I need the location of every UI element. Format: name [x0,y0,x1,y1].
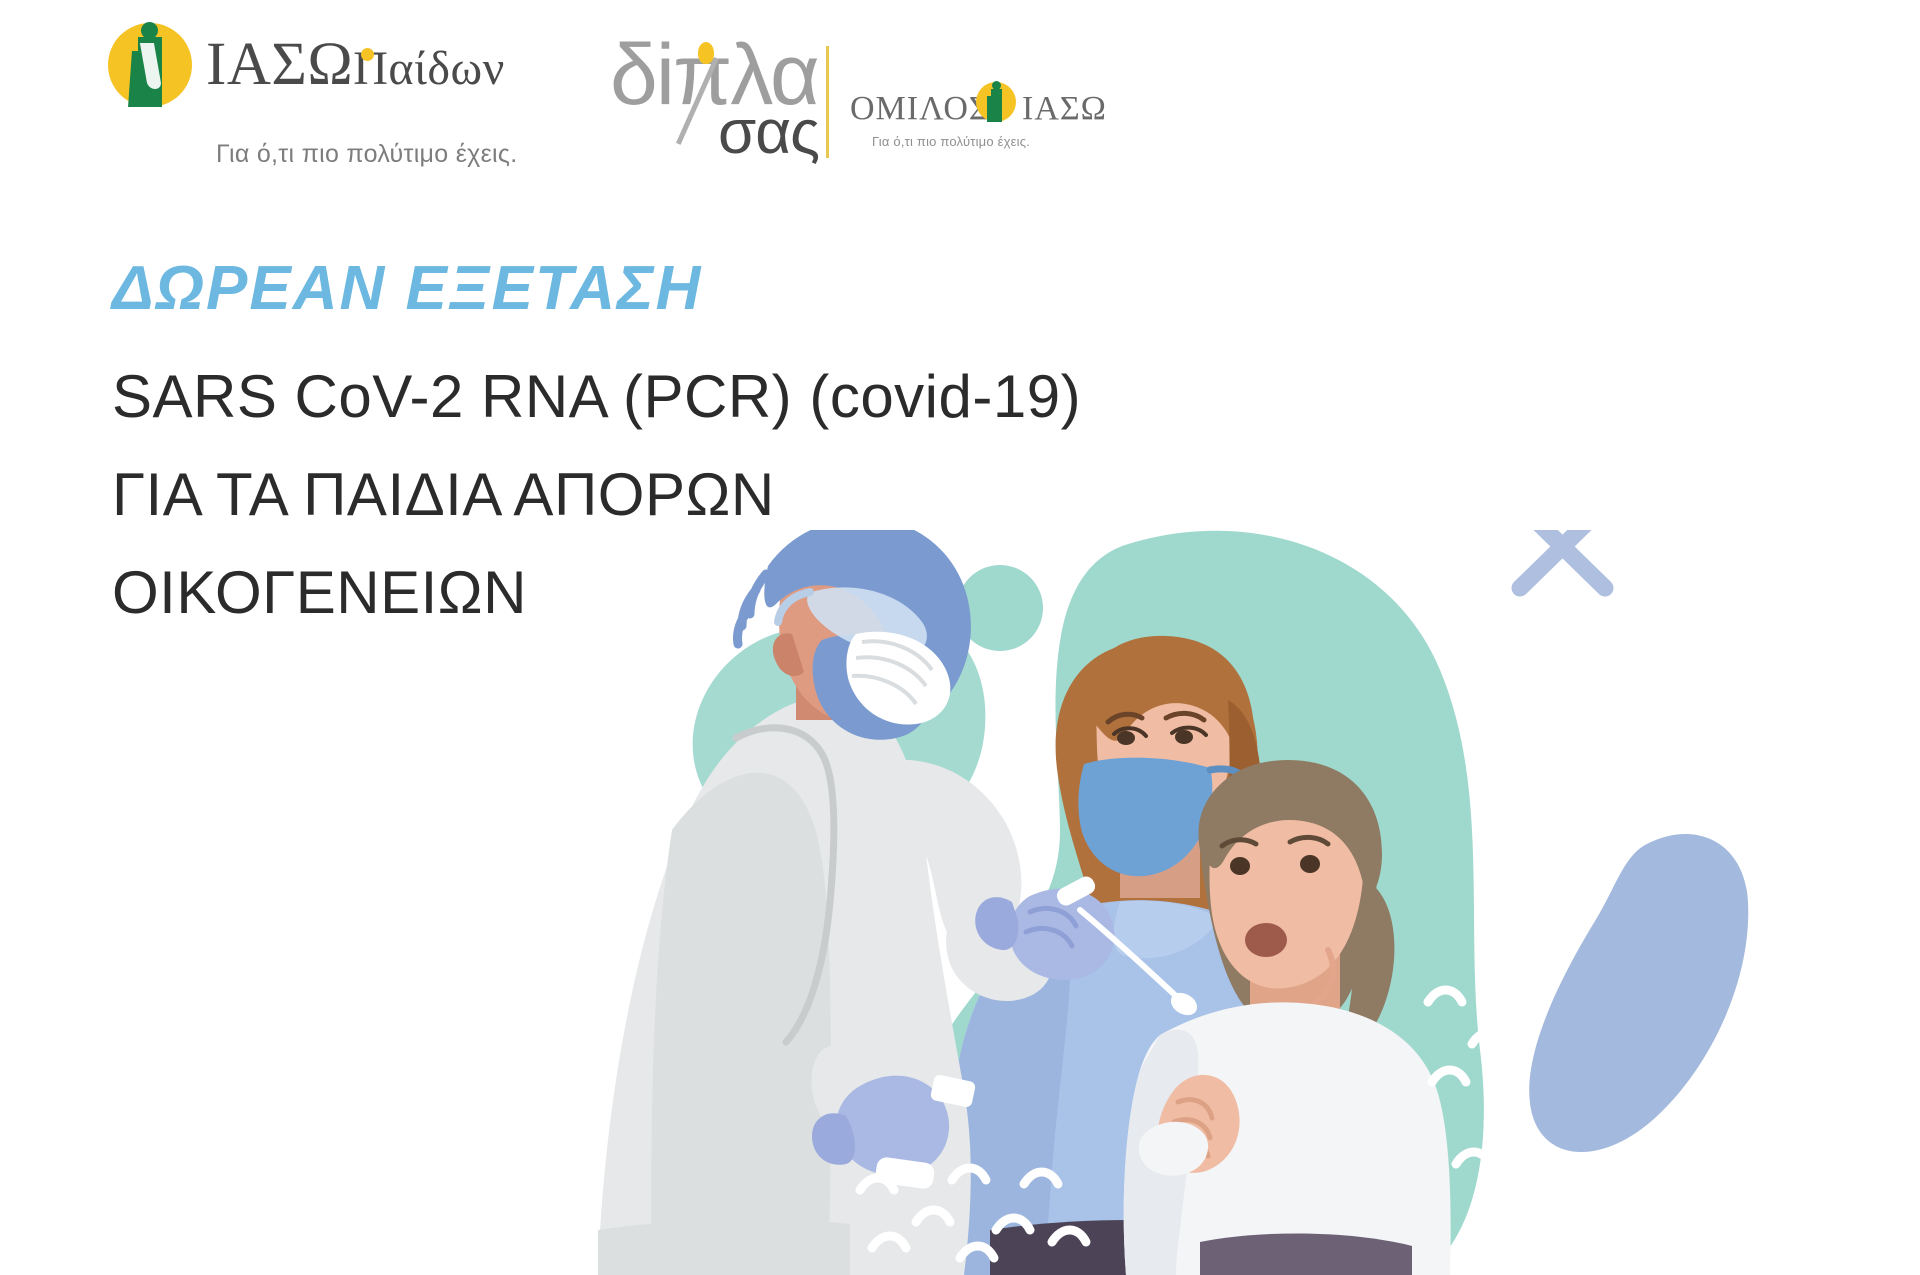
child-lower-body [1200,1233,1412,1275]
iaso-wordmark: ΙΑΣΩΠαίδων [206,34,505,99]
doctor-cap-pleats [738,574,767,644]
doctor-coat-shade [651,773,831,1275]
omilos-figure-body [991,89,1002,122]
illustration-svg [560,530,1920,1275]
iaso-paidon-logo[interactable]: ΙΑΣΩΠαίδων Για ό,τι πιο πολύτιμο έχεις. [108,18,498,158]
free-exam-eyebrow: ΔΩΡΕΑΝ ΕΞΕΤΑΣΗ [112,258,702,320]
omilos-iaso-logo: ΟΜΙΛΟΣ ΙΑΣΩ Για ό,τι πιο πολύτιμο έχεις. [850,92,1090,162]
child-eye-left [1230,857,1250,875]
omilos-figure-head [992,81,1001,90]
doctor-coat-hem [598,1219,850,1275]
title-line-test-name: SARS CoV-2 RNA (PCR) (covid-19) [112,348,1081,446]
mother-eye-left [1117,731,1135,745]
brand-header: ΙΑΣΩΠαίδων Για ό,τι πιο πολύτιμο έχεις. … [0,0,1920,175]
iaso-figure-head [141,22,158,39]
omilos-tagline: Για ό,τι πιο πολύτιμο έχεις. [872,134,1030,149]
blue-blob-decor [1529,834,1748,1152]
iaso-wordmark-sub: Παίδων [353,42,505,95]
logo-divider [826,46,829,158]
iaso-tagline: Για ό,τι πιο πολύτιμο έχεις. [216,140,517,169]
x-mark-decor [1520,530,1605,588]
iaso-figure-icon [108,23,192,107]
covid-test-illustration [560,530,1920,1275]
omilos-iaso-wordmark: ΙΑΣΩ [1022,92,1107,126]
omilos-figure-icon [976,82,1016,122]
dipla-sas-wordmark: σας [718,102,819,164]
omilos-label: ΟΜΙΛΟΣ [850,92,990,126]
child-mouth [1245,923,1287,957]
mother-eye-right [1175,730,1193,744]
child-eye-right [1300,855,1320,873]
iaso-wordmark-main: ΙΑΣΩ [206,31,353,98]
dipla-sas-logo[interactable]: δiπλα σας ΟΜΙΛΟΣ ΙΑΣΩ Για ό,τι πιο πολύτ… [610,20,1090,170]
